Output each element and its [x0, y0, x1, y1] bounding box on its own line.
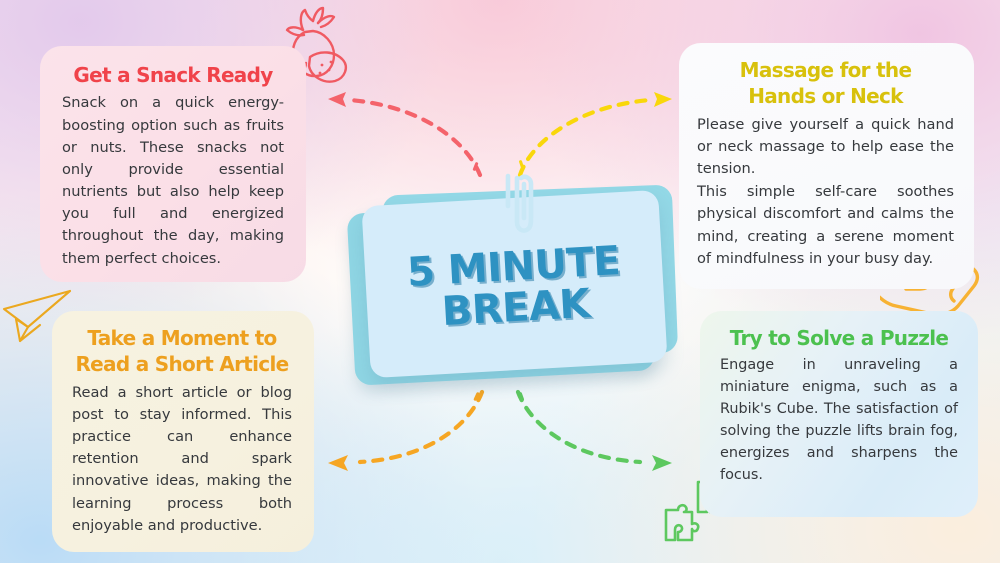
card-title-line-2: Read a Short Article: [75, 352, 288, 376]
card-body-article: Read a short article or blog post to sta…: [72, 382, 292, 537]
card-body-snack: Snack on a quick energy-boosting option …: [62, 92, 284, 269]
card-paragraph: Read a short article or blog post to sta…: [72, 382, 292, 537]
card-try-to-solve-a-puzzle[interactable]: Try to Solve a Puzzle Engage in unraveli…: [700, 311, 978, 517]
card-take-a-moment-to-read-a-short-article[interactable]: Take a Moment to Read a Short Article Re…: [52, 311, 314, 552]
card-paragraph: Engage in unraveling a miniature enigma,…: [720, 355, 958, 486]
card-title-snack: Get a Snack Ready: [62, 62, 284, 88]
center-card-stack[interactable]: 5 MINUTE BREAK: [345, 178, 675, 393]
card-title-line-1: Massage for the: [740, 58, 912, 82]
center-title-line-2: BREAK: [441, 281, 591, 335]
card-title-article: Take a Moment to Read a Short Article: [72, 325, 292, 378]
card-title-massage: Massage for the Hands or Neck: [697, 57, 954, 110]
card-massage-for-the-hands-or-neck[interactable]: Massage for the Hands or Neck Please giv…: [679, 43, 974, 289]
card-title-puzzle: Try to Solve a Puzzle: [720, 325, 958, 351]
card-get-a-snack-ready[interactable]: Get a Snack Ready Snack on a quick energ…: [40, 46, 306, 282]
poster-canvas: Get a Snack Ready Snack on a quick energ…: [0, 0, 1000, 563]
center-card-title: 5 MINUTE BREAK: [406, 241, 623, 334]
card-body-massage: Please give yourself a quick hand or nec…: [697, 114, 954, 270]
card-paragraph: This simple self-care soothes physical d…: [697, 181, 954, 270]
card-paragraph: Please give yourself a quick hand or nec…: [697, 114, 954, 181]
card-body-puzzle: Engage in unraveling a miniature enigma,…: [720, 355, 958, 486]
card-paragraph: Snack on a quick energy-boosting option …: [62, 92, 284, 269]
paperclip-icon: [495, 172, 541, 244]
card-title-line-2: Hands or Neck: [748, 84, 903, 108]
card-title-line-1: Take a Moment to: [87, 326, 276, 350]
